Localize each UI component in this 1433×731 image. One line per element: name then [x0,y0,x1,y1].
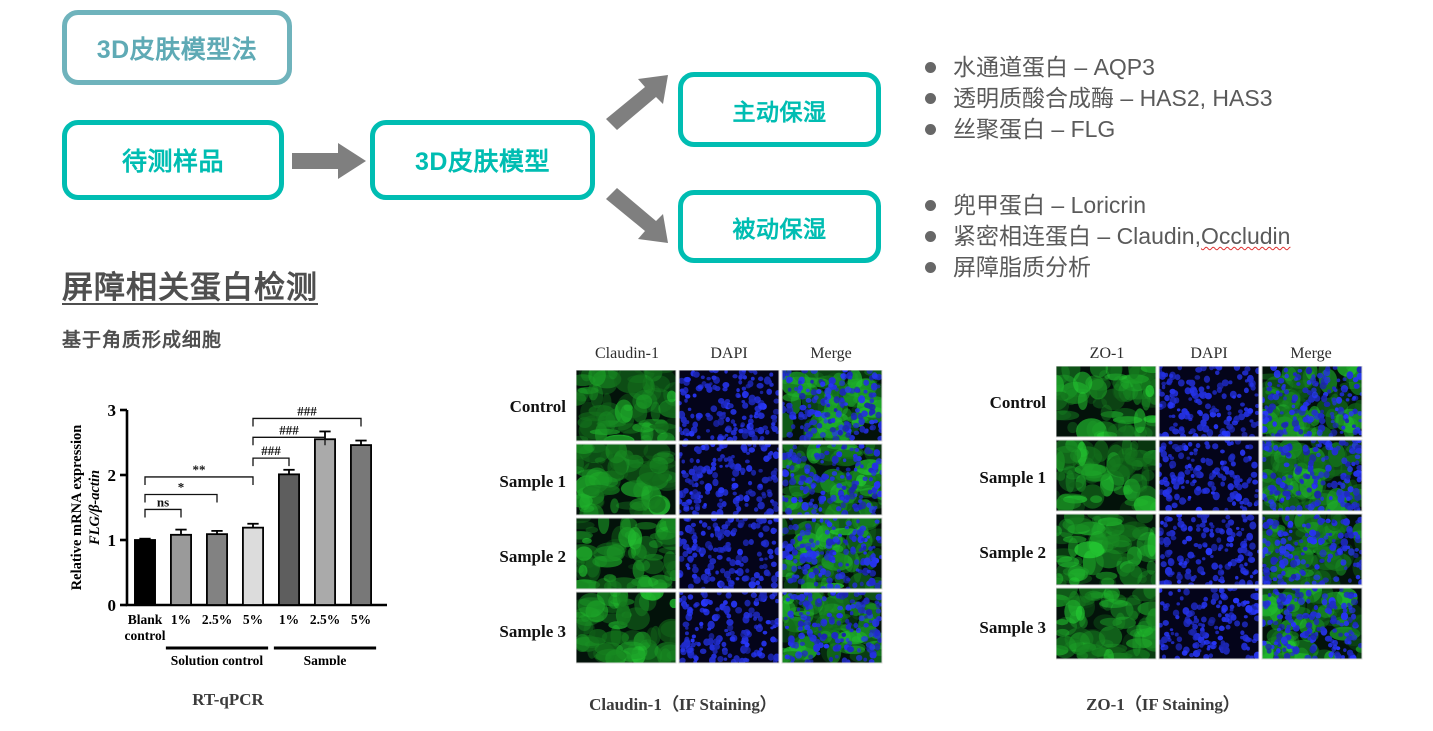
if-column-header: Merge [1290,345,1331,363]
flow-box-passive[interactable]: 被动保湿 [678,190,881,263]
svg-text:*: * [178,480,185,495]
if-row-label: Control [470,397,566,417]
bullet-group-active: 水通道蛋白 – AQP3 透明质酸合成酶 – HAS2, HAS3 丝聚蛋白 –… [925,52,1273,145]
bullet-dot-icon [925,124,936,135]
flow-box-active[interactable]: 主动保湿 [678,72,881,147]
bullet-dot-icon [925,93,936,104]
if-row-label: Sample 3 [470,622,566,642]
bullet-dot-icon [925,200,936,211]
bullet-item: 透明质酸合成酶 – HAS2, HAS3 [925,83,1273,114]
rt-qpcr-bar-chart: 0123Relative mRNA expressionFLG/β-actinB… [55,375,395,665]
flow-box-method[interactable]: 3D皮肤模型法 [62,10,292,85]
bullet-text: 透明质酸合成酶 – HAS2, HAS3 [953,83,1273,114]
section-heading: 屏障相关蛋白检测 [62,262,318,307]
svg-text:Blank: Blank [128,612,163,627]
arrow-up-right-icon [604,73,674,135]
claudin-caption: Claudin-1（IF Staining） [589,690,777,715]
section-subtitle: 基于角质形成细胞 [62,325,222,352]
arrow-down-right-icon [604,185,674,247]
svg-text:###: ### [279,422,299,437]
if-row-label: Sample 1 [470,472,566,492]
svg-text:###: ### [261,443,281,458]
claudin-1-panel: Claudin-1 DAPI Merge Control Sample 1 Sa… [470,345,900,675]
svg-text:1%: 1% [171,612,191,627]
flow-box-model[interactable]: 3D皮肤模型 [370,120,595,200]
svg-text:5%: 5% [351,612,371,627]
arrow-right-icon [292,142,368,180]
bullet-item: 水通道蛋白 – AQP3 [925,52,1273,83]
bullet-text-misspelled: Occludin [1201,221,1290,252]
flow-box-passive-label: 被动保湿 [733,210,827,244]
bullet-item: 兜甲蛋白 – Loricrin [925,190,1290,221]
bullet-text: 水通道蛋白 – AQP3 [953,52,1155,83]
svg-text:1%: 1% [279,612,299,627]
flow-box-active-label: 主动保湿 [733,93,827,127]
bullet-text: 兜甲蛋白 – Loricrin [953,190,1146,221]
flow-box-sample[interactable]: 待测样品 [62,120,284,200]
if-row-label: Sample 1 [950,468,1046,488]
bullet-item: 紧密相连蛋白 – Claudin, Occludin [925,221,1290,252]
svg-text:Sample: Sample [304,653,347,665]
zo1-caption: ZO-1（IF Staining） [1086,690,1240,715]
if-row-label: Sample 2 [950,543,1046,563]
if-row-label: Sample 3 [950,618,1046,638]
bullet-dot-icon [925,231,936,242]
if-column-header: Claudin-1 [595,345,659,363]
svg-text:2.5%: 2.5% [310,612,340,627]
svg-text:ns: ns [157,494,169,509]
svg-text:Relative mRNA expression: Relative mRNA expression [69,425,85,591]
if-row-label: Control [950,393,1046,413]
zo-1-panel: ZO-1 DAPI Merge Control Sample 1 Sample … [950,345,1380,675]
bullet-text: 屏障脂质分析 [953,252,1091,283]
svg-text:control: control [125,628,166,643]
svg-text:1: 1 [108,531,117,550]
if-column-header: DAPI [1190,345,1227,363]
bullet-dot-icon [925,62,936,73]
svg-text:0: 0 [108,596,117,615]
if-row-label: Sample 2 [470,547,566,567]
bullet-item: 屏障脂质分析 [925,252,1290,283]
flow-box-sample-label: 待测样品 [122,142,224,178]
flow-box-model-label: 3D皮肤模型 [415,142,550,178]
chart-caption: RT-qPCR [192,690,264,710]
svg-text:**: ** [193,462,206,477]
svg-text:###: ### [297,403,317,418]
bullet-text: 丝聚蛋白 – FLG [953,114,1115,145]
svg-text:FLG/β-actin: FLG/β-actin [87,470,103,546]
bullet-item: 丝聚蛋白 – FLG [925,114,1273,145]
if-column-header: ZO-1 [1090,345,1125,363]
svg-text:2.5%: 2.5% [202,612,232,627]
if-image-grid [576,370,886,670]
svg-text:5%: 5% [243,612,263,627]
bullet-group-passive: 兜甲蛋白 – Loricrin 紧密相连蛋白 – Claudin, Occlud… [925,190,1290,283]
bullet-text: 紧密相连蛋白 – Claudin, [953,221,1201,252]
svg-text:Solution control: Solution control [171,653,264,665]
if-image-grid [1056,366,1366,666]
flow-box-method-label: 3D皮肤模型法 [97,30,257,66]
if-column-header: DAPI [710,345,747,363]
svg-text:2: 2 [108,466,117,485]
bullet-dot-icon [925,262,936,273]
if-column-header: Merge [810,345,851,363]
svg-text:3: 3 [108,401,117,420]
